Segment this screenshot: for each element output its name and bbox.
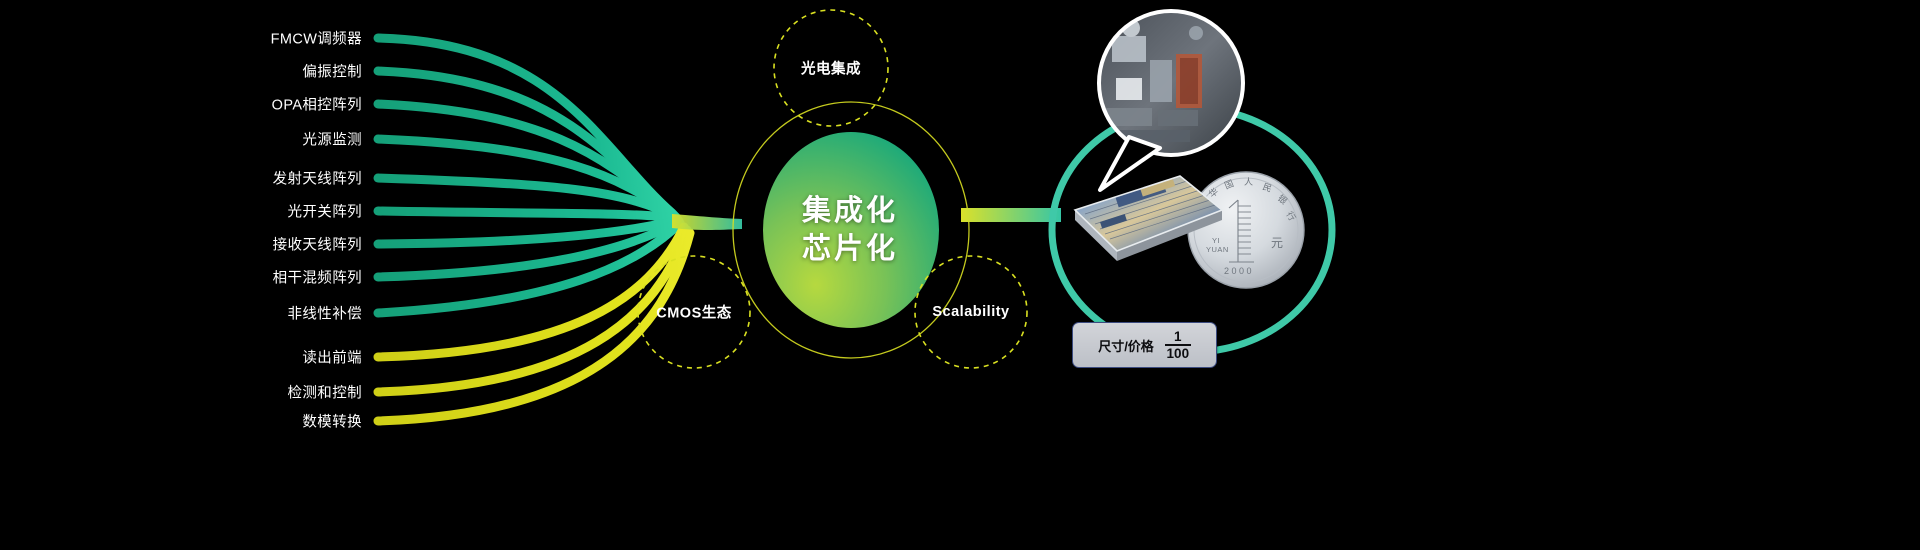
size-price-ratio-badge: 尺寸/价格 1 100 — [1072, 322, 1217, 368]
diagram-artwork: 华 国 人 民 银 行 YI YUAN 元 2000 — [0, 0, 1920, 550]
satellite-label-cmos: CMOS生态 — [656, 302, 732, 323]
satellite-label-scalability: Scalability — [932, 304, 1009, 320]
svg-text:2000: 2000 — [1224, 266, 1254, 276]
figure-canvas: FMCW调频器 偏振控制 OPA相控阵列 光源监测 发射天线阵列 光开关阵列 接… — [0, 0, 1920, 550]
callout-tail — [1100, 137, 1160, 190]
chip-closeup-callout — [1099, 11, 1243, 190]
core-to-panel-connector — [961, 208, 1061, 222]
core-circle — [763, 132, 939, 328]
satellite-label-photonic-electronic: 光电集成 — [801, 58, 861, 79]
ribbon-convergence — [672, 214, 742, 230]
ratio-denominator: 100 — [1167, 346, 1190, 361]
ratio-caption: 尺寸/价格 — [1098, 336, 1154, 355]
ratio-numerator: 1 — [1174, 330, 1182, 345]
teal-ribbon-group — [378, 38, 680, 313]
svg-text:YUAN: YUAN — [1206, 245, 1229, 254]
svg-text:元: 元 — [1271, 236, 1283, 250]
svg-text:人: 人 — [1244, 177, 1253, 187]
svg-text:YI: YI — [1212, 236, 1220, 245]
coin-one-yuan: 华 国 人 民 银 行 YI YUAN 元 2000 — [1188, 172, 1304, 288]
ratio-fraction: 1 100 — [1165, 330, 1191, 361]
